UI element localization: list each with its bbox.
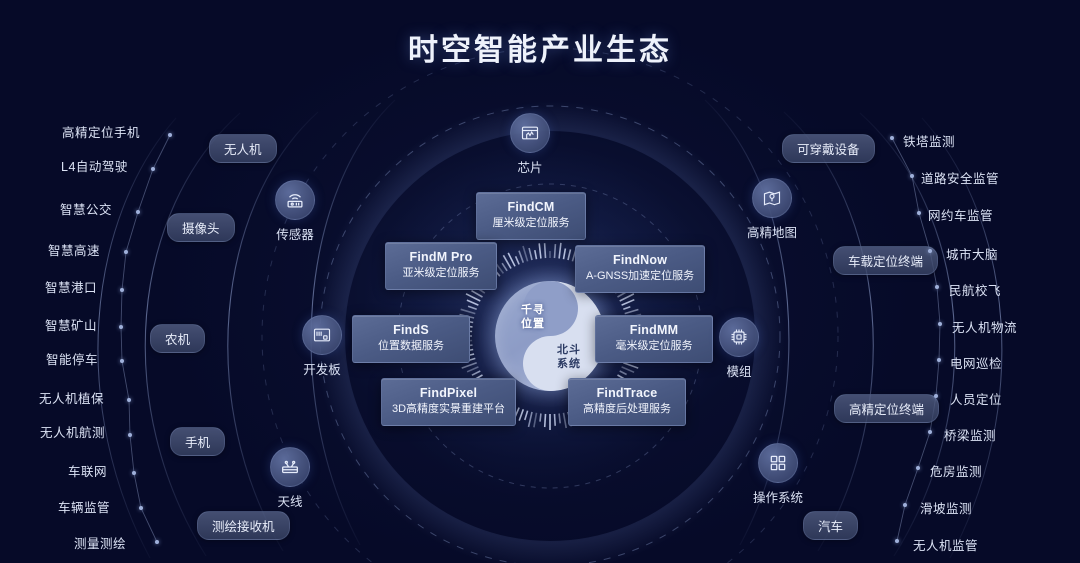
leaf-dot — [120, 288, 124, 292]
page-title: 时空智能产业生态 — [0, 25, 1080, 69]
leaf-dot — [136, 210, 140, 214]
icon-node-label: 高精地图 — [747, 222, 797, 241]
center-yinyang: 千寻 位置 北斗 系统 — [495, 281, 605, 391]
service-name: FindNow — [586, 253, 694, 268]
service-desc: 高精度后处理服务 — [579, 402, 675, 417]
service-name: FindM Pro — [396, 250, 486, 265]
module-chip-icon — [719, 317, 759, 357]
grid-squares-icon — [758, 443, 798, 483]
leaf-label: 无人机航测 — [40, 422, 105, 441]
leaf-label: 高精定位手机 — [62, 122, 140, 141]
service-box-findcm[interactable]: FindCM厘米级定位服务 — [476, 192, 586, 240]
service-desc: 毫米级定位服务 — [606, 339, 702, 354]
service-box-findtrace[interactable]: FindTrace高精度后处理服务 — [568, 378, 686, 426]
pill-label[interactable]: 摄像头 — [167, 213, 235, 242]
dev-board-icon — [302, 315, 342, 355]
leaf-label: 智慧高速 — [48, 240, 100, 259]
icon-node-label: 天线 — [277, 491, 302, 510]
leaf-dot — [928, 249, 932, 253]
service-desc: 亚米级定位服务 — [396, 266, 486, 281]
leaf-label: 民航校飞 — [949, 280, 1001, 299]
service-name: FindMM — [606, 323, 702, 338]
service-box-findnow[interactable]: FindNowA-GNSS加速定位服务 — [575, 245, 705, 293]
service-desc: 3D高精度实景重建平台 — [392, 402, 505, 417]
map-pin-icon — [752, 178, 792, 218]
leaf-dot — [120, 359, 124, 363]
leaf-label: 车辆监管 — [58, 497, 110, 516]
leaf-dot — [151, 167, 155, 171]
leaf-label: 危房监测 — [930, 461, 982, 480]
pill-label[interactable]: 农机 — [150, 324, 205, 353]
antenna-icon — [270, 447, 310, 487]
service-box-findmm[interactable]: FindMM毫米级定位服务 — [595, 315, 713, 363]
leaf-dot — [139, 506, 143, 510]
pill-label[interactable]: 高精定位终端 — [834, 394, 939, 423]
leaf-dot — [916, 466, 920, 470]
icon-node-module-chip[interactable]: 模组 — [719, 317, 759, 357]
icon-node-dev-board[interactable]: 开发板 — [302, 315, 342, 355]
leaf-label: 人员定位 — [950, 389, 1002, 408]
leaf-label: 电网巡检 — [950, 353, 1002, 372]
sensor-icon — [275, 180, 315, 220]
pill-label[interactable]: 无人机 — [209, 134, 277, 163]
center-system-line1: 北斗 — [545, 343, 593, 357]
icon-node-antenna[interactable]: 天线 — [270, 447, 310, 487]
service-desc: A-GNSS加速定位服务 — [586, 269, 694, 284]
leaf-dot — [910, 174, 914, 178]
leaf-label: 智能停车 — [46, 349, 98, 368]
leaf-dot — [903, 503, 907, 507]
leaf-label: 桥梁监测 — [944, 425, 996, 444]
leaf-dot — [128, 433, 132, 437]
leaf-label: 车联网 — [68, 461, 107, 480]
leaf-label: 道路安全监管 — [921, 168, 999, 187]
icon-node-label: 传感器 — [276, 224, 314, 243]
leaf-dot — [935, 285, 939, 289]
yinyang-disc — [495, 281, 605, 391]
leaf-dot — [124, 250, 128, 254]
leaf-label: 无人机监管 — [913, 535, 978, 554]
pill-label[interactable]: 车载定位终端 — [833, 246, 938, 275]
service-desc: 位置数据服务 — [363, 339, 459, 354]
leaf-label: 城市大脑 — [946, 244, 998, 263]
leaf-dot — [168, 133, 172, 137]
icon-node-label: 模组 — [726, 361, 751, 380]
leaf-dot — [938, 322, 942, 326]
service-desc: 厘米级定位服务 — [487, 216, 575, 231]
icon-node-label: 芯片 — [517, 157, 542, 176]
service-box-findpixel[interactable]: FindPixel3D高精度实景重建平台 — [381, 378, 516, 426]
leaf-dot — [132, 471, 136, 475]
leaf-dot — [890, 136, 894, 140]
center-brand-line1: 千寻 — [509, 303, 557, 317]
pill-label[interactable]: 汽车 — [803, 511, 858, 540]
center-system-line2: 系统 — [545, 357, 593, 371]
service-name: FindTrace — [579, 386, 675, 401]
poster-canvas: 时空智能产业生态 千寻 位置 北斗 系统 FindCM厘米级定位服务FindM … — [0, 0, 1080, 563]
leaf-label: 铁塔监测 — [903, 131, 955, 150]
leaf-label: 无人机植保 — [39, 388, 104, 407]
icon-node-grid-squares[interactable]: 操作系统 — [758, 443, 798, 483]
leaf-label: 无人机物流 — [952, 317, 1017, 336]
leaf-label: L4自动驾驶 — [61, 156, 128, 175]
leaf-dot — [155, 540, 159, 544]
leaf-label: 网约车监管 — [928, 205, 993, 224]
icon-node-sensor[interactable]: 传感器 — [275, 180, 315, 220]
leaf-dot — [928, 430, 932, 434]
icon-node-label: 操作系统 — [753, 487, 803, 506]
center-brand-label: 千寻 位置 — [509, 303, 557, 331]
leaf-label: 测量测绘 — [74, 533, 126, 552]
service-name: FindS — [363, 323, 459, 338]
service-name: FindCM — [487, 200, 575, 215]
pill-label[interactable]: 测绘接收机 — [197, 511, 290, 540]
pill-label[interactable]: 可穿戴设备 — [782, 134, 875, 163]
leaf-dot — [895, 539, 899, 543]
leaf-dot — [119, 325, 123, 329]
leaf-dot — [917, 211, 921, 215]
leaf-label: 智慧矿山 — [45, 315, 97, 334]
leaf-label: 智慧港口 — [45, 277, 97, 296]
pill-label[interactable]: 手机 — [170, 427, 225, 456]
leaf-dot — [127, 398, 131, 402]
leaf-label: 智慧公交 — [60, 199, 112, 218]
center-brand-line2: 位置 — [509, 317, 557, 331]
leaf-label: 滑坡监测 — [920, 498, 972, 517]
leaf-dot — [937, 358, 941, 362]
chip-window-icon — [510, 113, 550, 153]
service-box-finds[interactable]: FindS位置数据服务 — [352, 315, 470, 363]
icon-node-label: 开发板 — [303, 359, 341, 378]
service-box-findm-pro[interactable]: FindM Pro亚米级定位服务 — [385, 242, 497, 290]
icon-node-map-pin[interactable]: 高精地图 — [752, 178, 792, 218]
icon-node-chip-window[interactable]: 芯片 — [510, 113, 550, 153]
leaf-dot — [934, 394, 938, 398]
center-system-label: 北斗 系统 — [545, 343, 593, 371]
service-name: FindPixel — [392, 386, 505, 401]
